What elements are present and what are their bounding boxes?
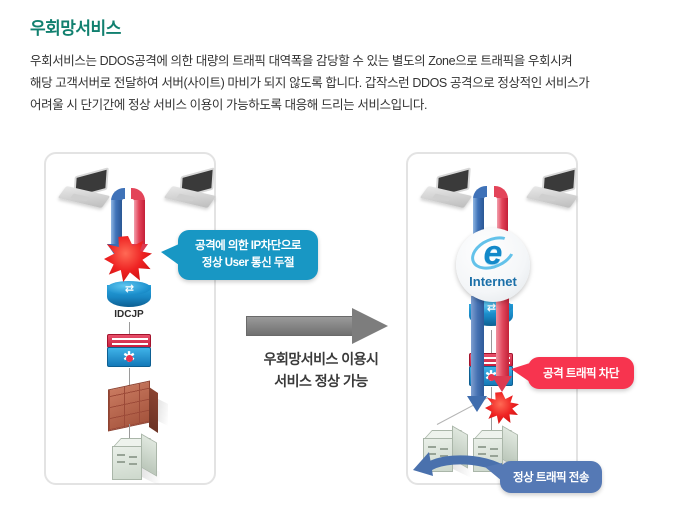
callout-normal-traffic: 정상 트래픽 전송 bbox=[500, 461, 602, 493]
intro-paragraph: 우회서비스는 DDOS공격에 의한 대량의 트래픽 대역폭을 감당할 수 있는 … bbox=[30, 50, 650, 116]
callout-normal-label: 정상 트래픽 전송 bbox=[513, 469, 589, 485]
router-label: IDCJP bbox=[89, 309, 169, 320]
center-caption-line-2: 서비스 정상 가능 bbox=[236, 370, 406, 392]
intro-line-3: 어려울 시 단기간에 정상 서비스 이용이 가능하도록 대응해 드리는 서비스입… bbox=[30, 94, 650, 116]
right-arrow-icon bbox=[246, 308, 396, 344]
switch-upper bbox=[107, 334, 151, 348]
firewall-side bbox=[149, 387, 158, 433]
flow-arrow-red bbox=[492, 296, 513, 394]
switch-icon: ✱ bbox=[107, 334, 151, 368]
laptop-icon bbox=[60, 172, 112, 210]
server-vent bbox=[117, 461, 125, 463]
intro-line-1: 우회서비스는 DDOS공격에 의한 대량의 트래픽 대역폭을 감당할 수 있는 … bbox=[30, 50, 650, 72]
laptop-icon bbox=[422, 172, 474, 210]
curved-arrow-head bbox=[413, 452, 433, 476]
callout-ip-blocked: 공격에 의한 IP차단으로 정상 User 통신 두절 bbox=[178, 230, 318, 280]
firewall-brick-icon bbox=[108, 385, 158, 429]
flow-arrow-blue-shaft bbox=[471, 296, 484, 398]
laptop-icon bbox=[166, 172, 218, 210]
flow-arrow-blue bbox=[467, 296, 488, 412]
intro-line-2: 해당 고객서버로 전달하여 서버(사이트) 마비가 되지 않도록 합니다. 갑작… bbox=[30, 72, 650, 94]
server-stack-icon bbox=[112, 436, 160, 482]
callout-tail bbox=[485, 463, 502, 481]
router-icon: ⇄ bbox=[107, 281, 151, 311]
flow-arrow-red-head bbox=[492, 376, 512, 392]
server-vent bbox=[478, 446, 486, 448]
laptop-icon bbox=[528, 172, 580, 210]
flow-arrow-blue-head bbox=[467, 396, 487, 412]
callout-attack-blocked: 공격 트래픽 차단 bbox=[528, 357, 634, 389]
pipe-red-vertical bbox=[134, 200, 145, 246]
page-title: 우회망서비스 bbox=[30, 14, 121, 39]
callout-line-2: 정상 User 통신 두절 bbox=[195, 255, 301, 272]
server-vent bbox=[117, 454, 125, 456]
internet-label: Internet bbox=[456, 274, 530, 289]
callout-tail bbox=[161, 244, 179, 265]
flow-arrow-red-shaft bbox=[496, 296, 509, 378]
arrow-shaft bbox=[246, 316, 354, 336]
callout-tail bbox=[511, 363, 530, 382]
server-vent bbox=[428, 446, 436, 448]
server-vent bbox=[129, 463, 137, 465]
center-caption: 우회망서비스 이용시 서비스 정상 가능 bbox=[236, 348, 406, 392]
internet-explorer-icon: e Internet bbox=[456, 228, 530, 302]
callout-attack-label: 공격 트래픽 차단 bbox=[543, 365, 619, 381]
center-caption-line-1: 우회망서비스 이용시 bbox=[236, 348, 406, 370]
server-front bbox=[112, 446, 142, 480]
switch-star: ✱ bbox=[120, 351, 138, 365]
router-arrows: ⇄ bbox=[115, 283, 143, 295]
server-vent bbox=[129, 456, 137, 458]
arrow-head bbox=[352, 308, 388, 344]
callout-line-1: 공격에 의한 IP차단으로 bbox=[195, 238, 301, 255]
